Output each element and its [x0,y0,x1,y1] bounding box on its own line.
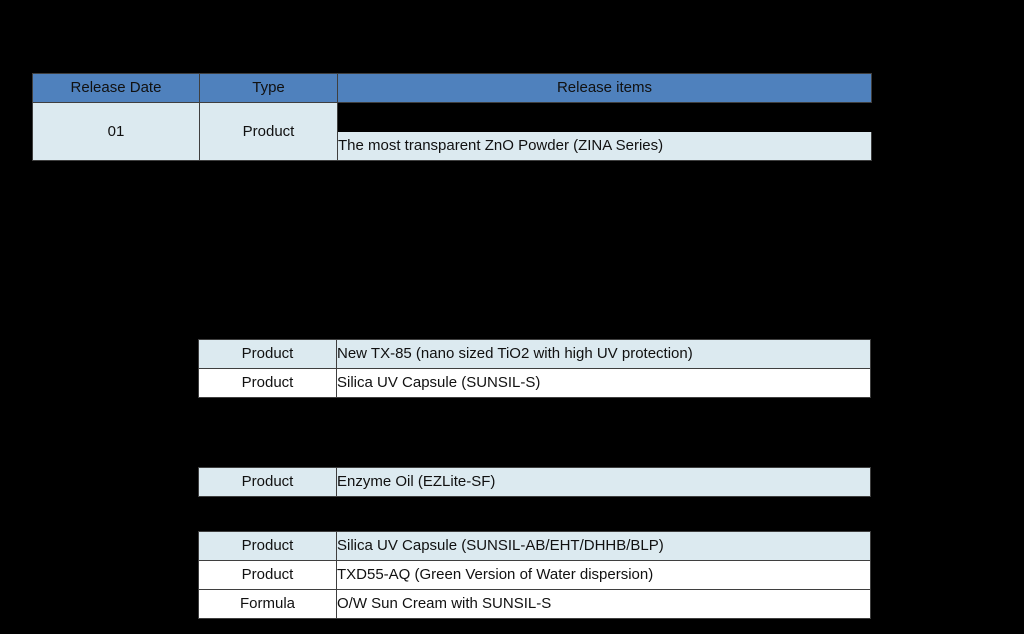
table-row: Product Silica UV Capsule (SUNSIL-S) [199,369,871,398]
release-schedule-table-group-04: Product Silica UV Capsule (SUNSIL-AB/EHT… [198,531,871,619]
cell-type-formula: Formula [199,590,337,619]
table-row: Product TXD55-AQ (Green Version of Water… [199,561,871,590]
cell-release-date-01: 01 [33,103,200,161]
cell-release-item-tx85: New TX-85 (nano sized TiO2 with high UV … [337,340,871,369]
release-schedule-table-group-03: Product Enzyme Oil (EZLite-SF) [198,467,871,497]
column-header-type: Type [200,74,338,103]
cell-release-item-sunsil-s: Silica UV Capsule (SUNSIL-S) [337,369,871,398]
release-schedule-table-group-02: Product New TX-85 (nano sized TiO2 with … [198,339,871,398]
table-row: Product Silica UV Capsule (SUNSIL-AB/EHT… [199,532,871,561]
cell-type-product: Product [199,369,337,398]
release-schedule-table-header-group: Release Date Type Release items 01 Produ… [32,73,872,161]
cell-release-item-zna: The most transparent ZnO Powder (ZINA Se… [338,132,872,161]
slide-canvas: Release Date Type Release items 01 Produ… [0,0,1024,634]
column-header-release-items: Release items [338,74,872,103]
cell-type-product: Product [199,561,337,590]
cell-release-item-sunsil-variants: Silica UV Capsule (SUNSIL-AB/EHT/DHHB/BL… [337,532,871,561]
cell-release-item-txd55aq: TXD55-AQ (Green Version of Water dispers… [337,561,871,590]
cell-release-item-empty [338,103,872,132]
cell-type-product: Product [200,103,338,161]
cell-release-item-ow-sun-cream: O/W Sun Cream with SUNSIL-S [337,590,871,619]
table-header-row: Release Date Type Release items [33,74,872,103]
cell-type-product: Product [199,532,337,561]
table-row: Product New TX-85 (nano sized TiO2 with … [199,340,871,369]
column-header-release-date: Release Date [33,74,200,103]
cell-type-product: Product [199,340,337,369]
table-row: Formula O/W Sun Cream with SUNSIL-S [199,590,871,619]
table-row: 01 Product [33,103,872,132]
table-row: Product Enzyme Oil (EZLite-SF) [199,468,871,497]
cell-release-item-enzyme-oil: Enzyme Oil (EZLite-SF) [337,468,871,497]
cell-type-product: Product [199,468,337,497]
